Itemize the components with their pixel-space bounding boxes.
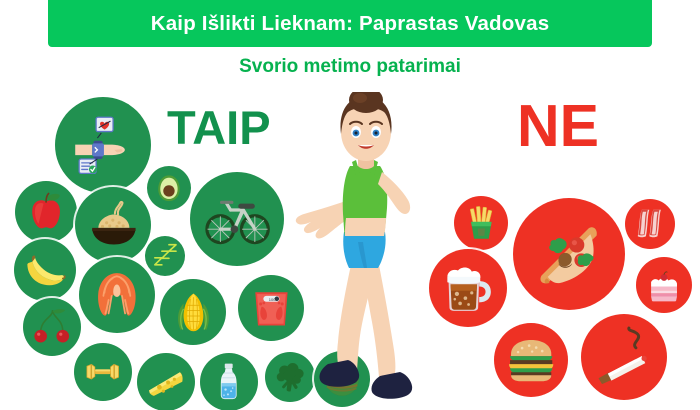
- bubble-hamburger[interactable]: [494, 323, 568, 397]
- weight-scale-icon: 100: [249, 286, 294, 331]
- pizza-slice-icon: [531, 216, 607, 292]
- hamburger-icon: [506, 335, 556, 385]
- header-banner: Kaip Išlikti Lieknam: Paprastas Vadovas: [48, 0, 652, 47]
- bubble-apple[interactable]: [15, 181, 77, 243]
- bubble-cake-slice[interactable]: [636, 257, 692, 313]
- bubble-corn[interactable]: [160, 279, 226, 345]
- bubble-french-fries[interactable]: [454, 196, 508, 250]
- bubble-cherries[interactable]: [23, 298, 81, 356]
- fitness-tracker-icon: [70, 112, 135, 177]
- bacon-icon: [633, 207, 667, 241]
- bubble-salmon[interactable]: [79, 257, 155, 333]
- cake-slice-icon: [645, 266, 683, 304]
- french-fries-icon: [463, 205, 500, 242]
- dumbbell-icon: [83, 352, 122, 391]
- label-no: NE: [517, 97, 599, 156]
- bubble-sleep-zzz[interactable]: [145, 236, 185, 276]
- page-subtitle: Svorio metimo patarimai: [0, 56, 700, 78]
- bubble-banana[interactable]: [14, 239, 76, 301]
- fitness-woman-illustration: [292, 92, 442, 410]
- apple-icon: [25, 191, 67, 233]
- bubble-bacon[interactable]: [625, 199, 675, 249]
- label-yes: TAIP: [167, 104, 271, 151]
- beer-mug-icon: [441, 261, 494, 314]
- corn-icon: [171, 290, 216, 335]
- bubble-pizza-slice[interactable]: [513, 198, 625, 310]
- banana-icon: [24, 249, 66, 291]
- bubble-bicycle[interactable]: [190, 172, 284, 266]
- noodle-bowl-icon: [87, 199, 139, 251]
- salmon-icon: [91, 269, 143, 321]
- bubble-water-bottle[interactable]: [200, 353, 258, 410]
- infographic-canvas: Kaip Išlikti Lieknam: Paprastas Vadovas …: [0, 0, 700, 410]
- bicycle-icon: [205, 187, 269, 251]
- sleep-zzz-icon: [151, 242, 178, 269]
- bubble-fitness-tracker[interactable]: [55, 97, 151, 193]
- bubble-avocado[interactable]: [147, 166, 191, 210]
- bubble-dumbbell[interactable]: [74, 343, 132, 401]
- cheese-icon: [146, 362, 185, 401]
- cherries-icon: [32, 307, 71, 346]
- svg-text:100: 100: [268, 296, 275, 301]
- water-bottle-icon: [209, 362, 248, 401]
- bubble-noodle-bowl[interactable]: [75, 187, 151, 263]
- bubble-cheese[interactable]: [137, 353, 195, 410]
- bubble-cigarette[interactable]: [581, 314, 667, 400]
- cigarette-icon: [595, 328, 653, 386]
- page-title: Kaip Išlikti Lieknam: Paprastas Vadovas: [151, 12, 550, 36]
- avocado-icon: [154, 173, 184, 203]
